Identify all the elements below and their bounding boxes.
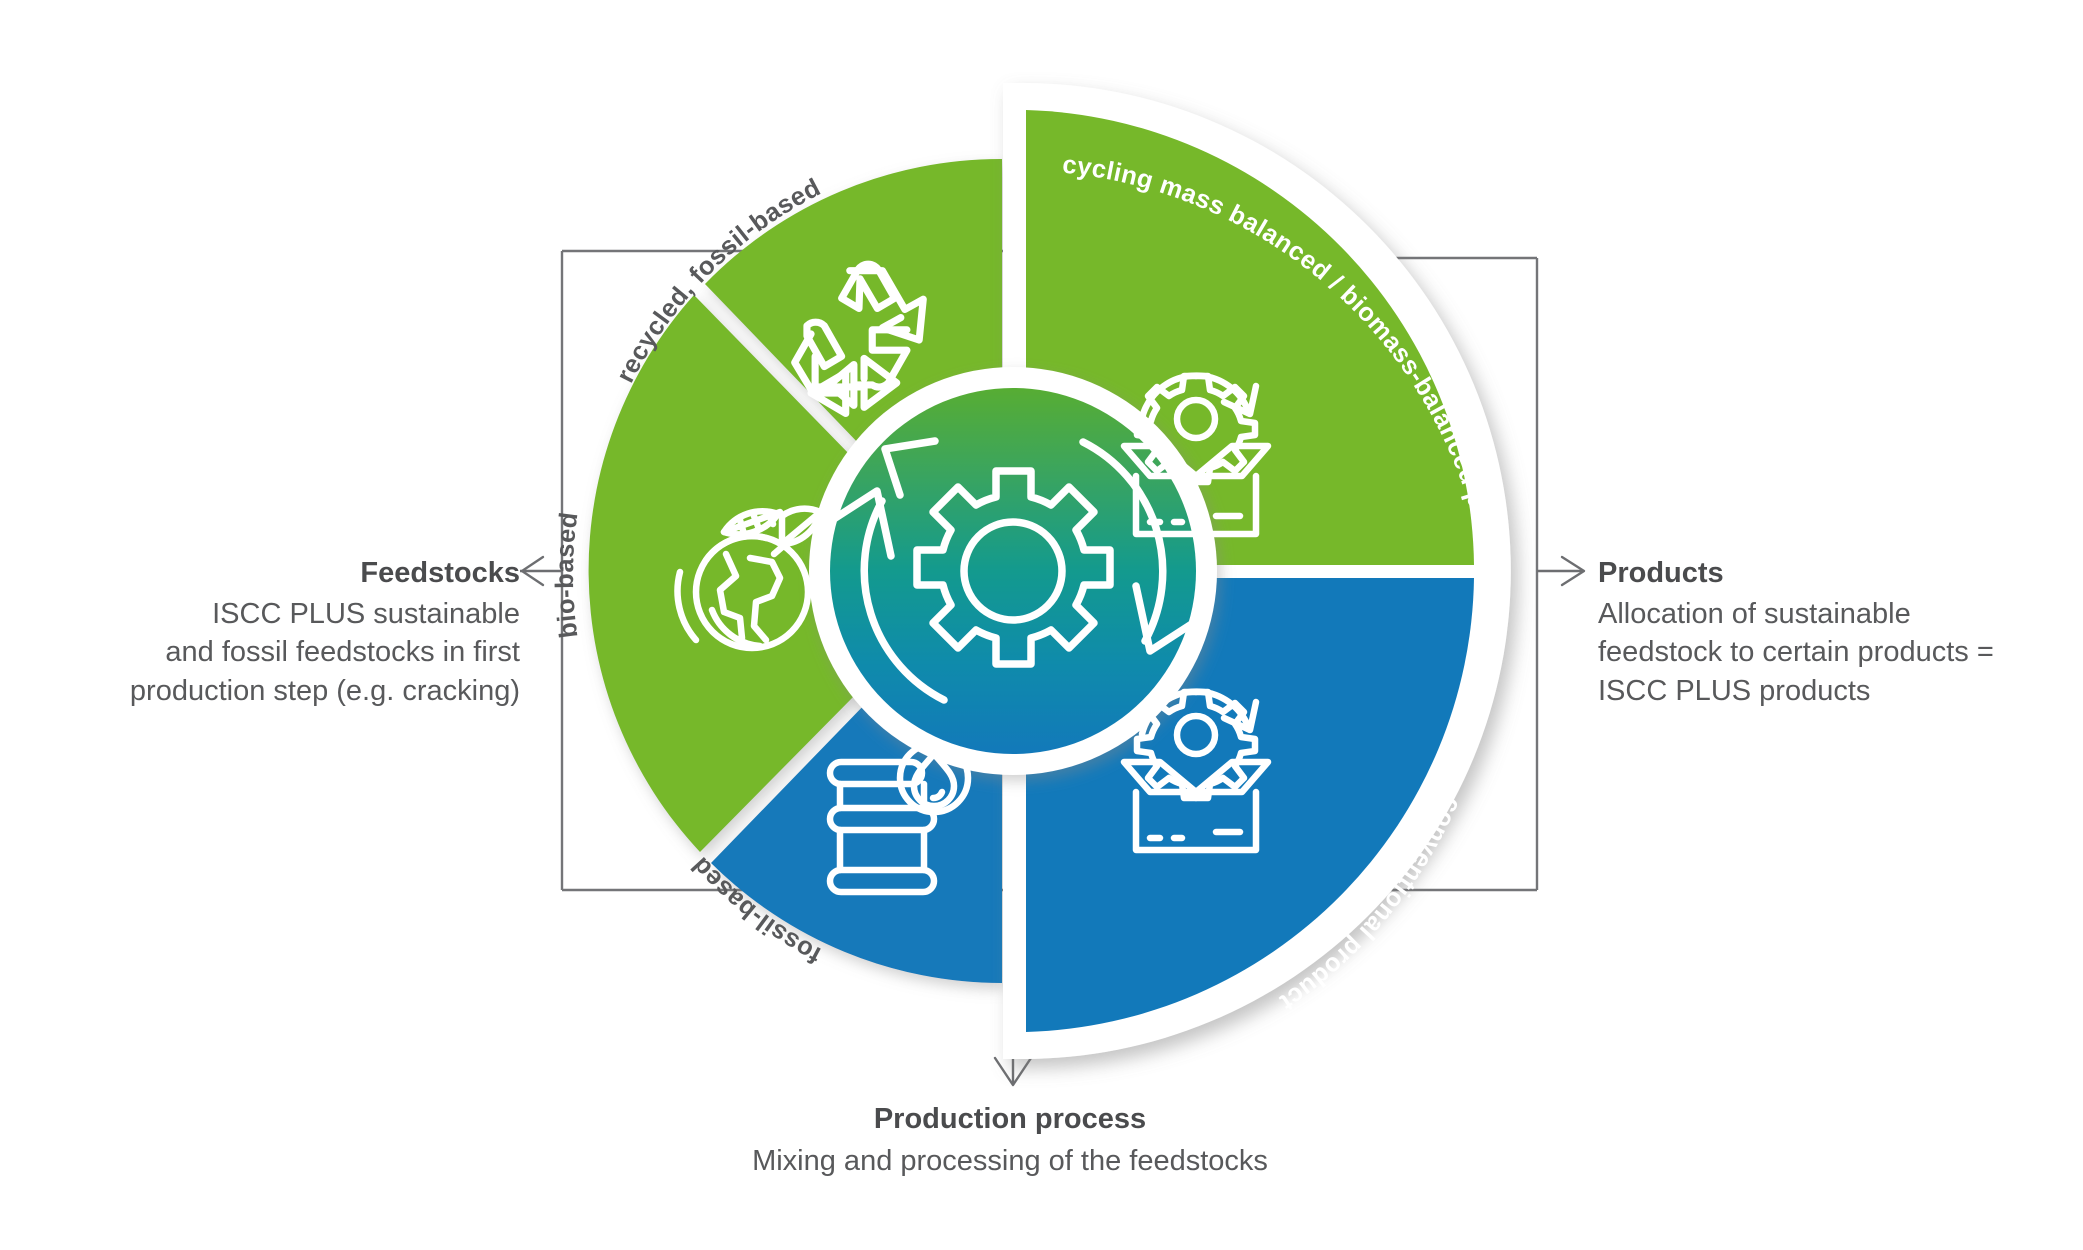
feedstocks-description: ISCC PLUS sustainable and fossil feedsto…: [60, 595, 520, 711]
diagram-stage: recycled, fossil-based bio-based fossil-…: [0, 0, 2083, 1250]
production-process-description: Mixing and processing of the feedstocks: [620, 1142, 1400, 1181]
products-annotation: Products Allocation of sustainable feeds…: [1598, 554, 2078, 710]
production-process-title: Production process: [620, 1100, 1400, 1139]
center-hub: [809, 367, 1217, 775]
label-bio-based: bio-based: [551, 510, 584, 639]
production-process-annotation: Production process Mixing and processing…: [620, 1100, 1400, 1180]
products-title: Products: [1598, 554, 2078, 593]
feedstocks-annotation: Feedstocks ISCC PLUS sustainable and fos…: [60, 554, 520, 710]
products-description: Allocation of sustainable feedstock to c…: [1598, 595, 2078, 711]
feedstocks-title: Feedstocks: [60, 554, 520, 593]
